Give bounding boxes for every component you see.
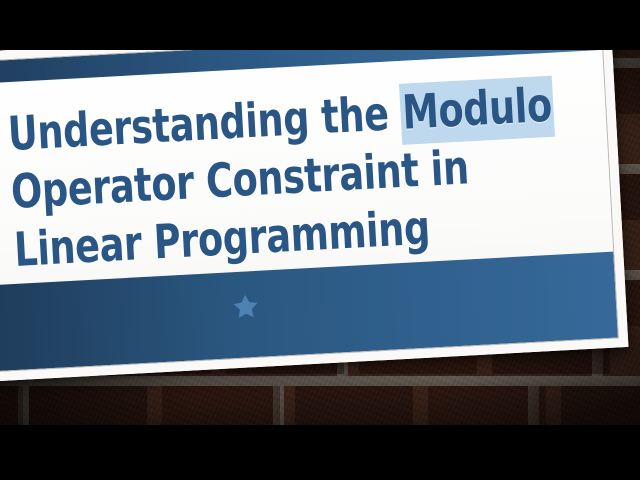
slide-title: Understanding the Modulo Operator Constr… (7, 74, 606, 280)
title-highlight-modulo: Modulo (399, 76, 555, 145)
framed-slide: Understanding the Modulo Operator Constr… (0, 17, 628, 382)
video-frame: Understanding the Modulo Operator Constr… (0, 0, 640, 480)
slide-canvas: Understanding the Modulo Operator Constr… (0, 27, 619, 373)
letterbox-bar-bottom (0, 425, 640, 480)
star-icon (230, 291, 262, 323)
letterbox-bar-top (0, 0, 640, 50)
